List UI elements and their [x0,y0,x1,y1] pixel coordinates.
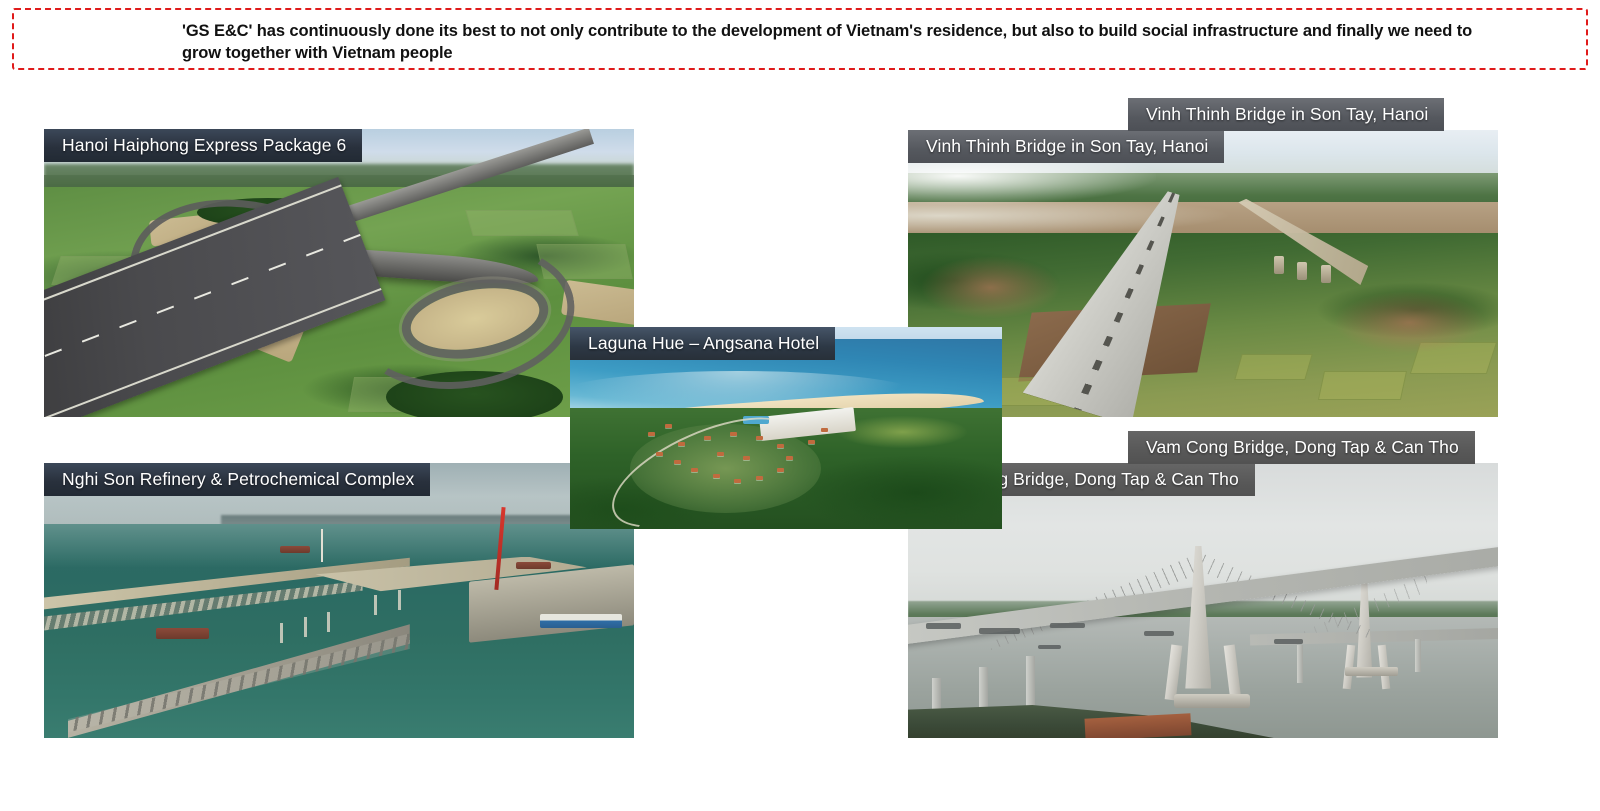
photo-laguna-hue-angsana-hotel[interactable]: Laguna Hue – Angsana Hotel [570,327,1002,529]
slide-canvas: 'GS E&C' has continuously done its best … [0,0,1600,811]
slide-footer: VGSE zeit THU THIEM ZEIT [0,741,1600,811]
photo-caption: Hanoi Haiphong Express Package 6 [44,129,362,162]
header-callout-box: 'GS E&C' has continuously done its best … [12,8,1588,70]
photo-caption-vam-cong-overlay: Vam Cong Bridge, Dong Tap & Can Tho [1128,431,1475,464]
photo-hanoi-haiphong-express[interactable]: Hanoi Haiphong Express Package 6 [44,129,634,417]
photo-scene [44,463,634,738]
photo-caption: Laguna Hue – Angsana Hotel [570,327,835,360]
photo-scene [44,129,634,417]
photo-caption-vinh-thinh-overlay: Vinh Thinh Bridge in Son Tay, Hanoi [1128,98,1444,131]
photo-caption: Vinh Thinh Bridge in Son Tay, Hanoi [908,130,1224,163]
photo-nghi-son-refinery[interactable]: Nghi Son Refinery & Petrochemical Comple… [44,463,634,738]
header-callout-text: 'GS E&C' has continuously done its best … [182,20,1482,65]
photo-caption: Nghi Son Refinery & Petrochemical Comple… [44,463,430,496]
